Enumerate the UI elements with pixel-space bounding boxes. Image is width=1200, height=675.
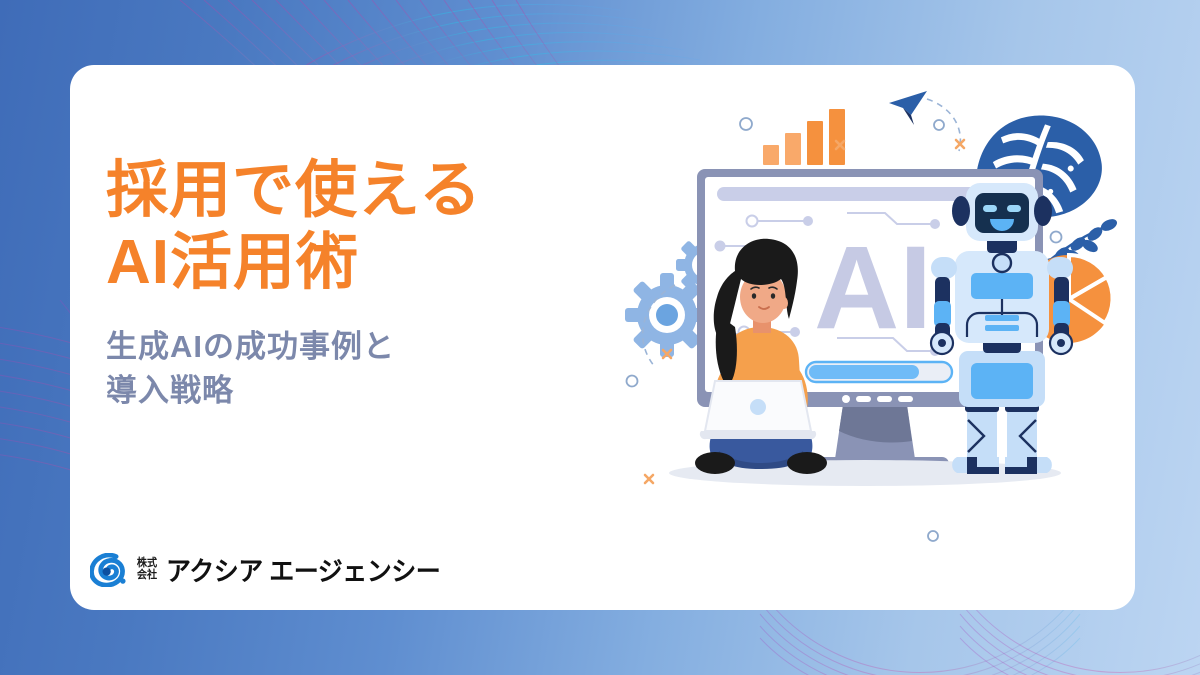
subtitle-line-1: 生成AIの成功事例と [106,325,626,369]
ai-illustration: AI [615,75,1135,575]
progress-bar [806,362,952,382]
company-logo: 株式 会社 アクシア エージェンシー [90,552,440,588]
paper-plane-icon [889,91,927,125]
logo-company-name: アクシア エージェンシー [166,551,440,589]
bar-chart-icon [763,109,845,165]
headline-line-1: 採用で使える [106,155,626,227]
gear-large-icon [625,273,709,357]
logo-prefix-line-1: 株式 [137,558,157,570]
content-card: 採用で使える AI活用術 生成AIの成功事例と 導入戦略 株式 会社 アクシア … [70,65,1135,610]
axia-circle-mark-icon [90,553,128,587]
logo-prefix-line-2: 会社 [137,570,157,582]
headline-line-2: AI活用術 [106,227,626,299]
logo-company-prefix: 株式 会社 [137,558,157,581]
screen-ai-text: AI [814,222,932,354]
title-text-block: 採用で使える AI活用術 生成AIの成功事例と 導入戦略 [106,155,626,413]
subtitle-line-2: 導入戦略 [106,369,626,413]
